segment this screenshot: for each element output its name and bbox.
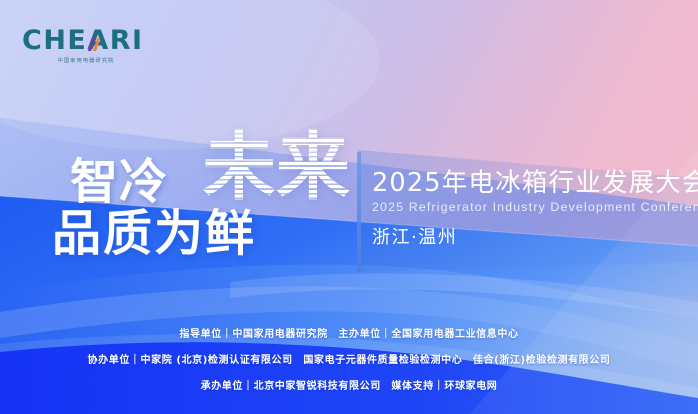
conference-poster: CHEARI 中国家用电器研究院 智冷 未来 未来 品质为鲜 2025年电冰箱行… [0, 0, 698, 414]
slogan-line-1: 智冷 未来 未来 [70, 146, 365, 208]
event-title-block: 2025年电冰箱行业发展大会 2025 Refrigerator Industr… [372, 168, 698, 250]
cheari-logo: CHEARI 中国家用电器研究院 [22, 26, 150, 66]
credit-line-guidance: 指导单位｜中国家用电器研究院 主办单位｜全国家用电器工业信息中心 [0, 322, 698, 348]
event-title-cn: 2025年电冰箱行业发展大会 [372, 168, 698, 198]
main-slogan: 智冷 未来 未来 品质为鲜 [70, 146, 365, 271]
credits-block: 指导单位｜中国家用电器研究院 主办单位｜全国家用电器工业信息中心 协办单位｜中家… [0, 322, 698, 400]
cheari-wordmark: CHEARI [22, 26, 150, 55]
title-divider [357, 152, 361, 272]
slogan-line-2: 品质为鲜 [52, 208, 256, 260]
credit-line-undertaker: 承办单位｜北京中家智锐科技有限公司 媒体支持｜环球家电网 [0, 374, 698, 400]
event-title-en: 2025 Refrigerator Industry Development C… [372, 199, 698, 215]
cheari-logo-subtitle: 中国家用电器研究院 [25, 56, 148, 64]
slogan-zhileng: 智冷 [70, 158, 168, 206]
credit-line-coorganizers: 协办单位｜中家院 (北京)检测认证有限公司 国家电子元器件质量检验检测中心 佳合… [0, 348, 698, 374]
slogan-weilai: 未来 [202, 130, 350, 204]
event-location: 浙江·温州 [372, 226, 698, 250]
